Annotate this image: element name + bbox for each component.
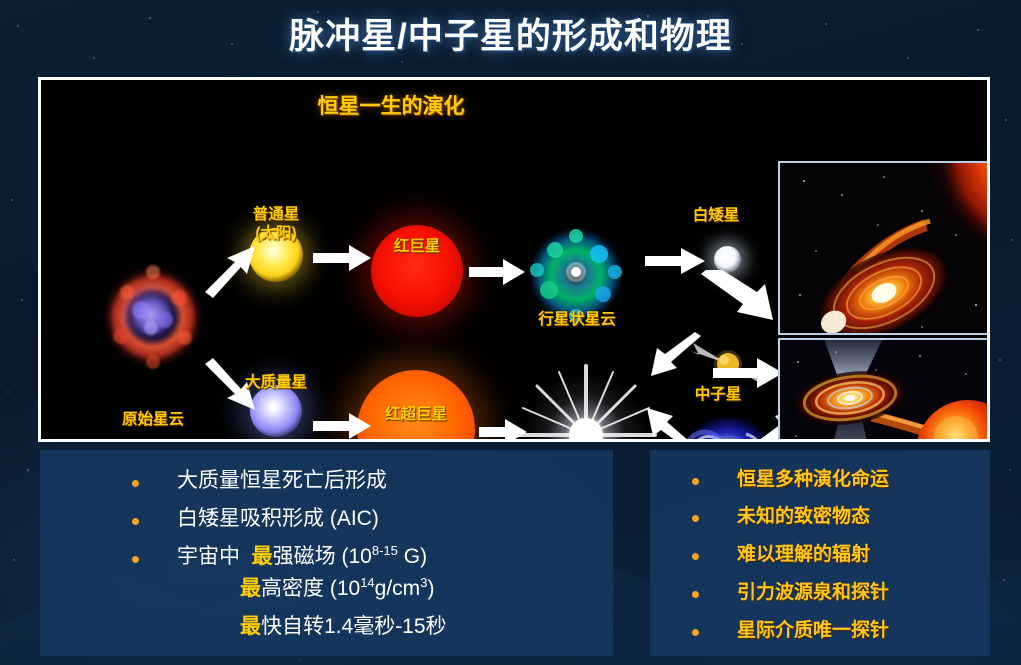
- list-item: 大质量恒星死亡后形成: [132, 464, 387, 494]
- bullet-text-magnetic-field: 宇宙中 最强磁场 (108-15 G): [177, 540, 427, 570]
- arrow-supernova-to-neutron-star: [649, 332, 705, 384]
- bullet-dot-icon: [132, 480, 139, 487]
- supernova-icon: [511, 360, 661, 442]
- primordial-nebula-icon: [97, 258, 209, 376]
- list-item: 引力波源泉和探针: [692, 577, 889, 604]
- arrow-red-giant-to-planetary-nebula: [469, 258, 525, 286]
- right-bullet-panel: 恒星多种演化命运 未知的致密物态 难以理解的辐射 引力波源泉和探针 星际介质唯一…: [650, 450, 990, 656]
- sub-tail: g/cm: [375, 577, 421, 600]
- label-primordial-nebula: 原始星云: [83, 410, 223, 429]
- bullet-dot-icon: [132, 556, 139, 563]
- nebula-texture: [97, 258, 209, 376]
- bullet-dot-icon: [692, 553, 699, 560]
- list-item: 难以理解的辐射: [692, 539, 870, 566]
- list-item: 恒星多种演化命运: [692, 464, 889, 491]
- bullet-dot-icon: [132, 518, 139, 525]
- list-item: 星际介质唯一探针: [692, 615, 889, 642]
- white-dwarf-icon: [714, 246, 741, 273]
- sub-line-density: 最高密度 (1014g/cm3): [240, 572, 434, 602]
- sub-tail-2: ): [427, 577, 434, 600]
- bullet-text: 恒星多种演化命运: [737, 464, 889, 491]
- bullet-text: 星际介质唯一探针: [737, 615, 889, 642]
- bullet-prefix: 宇宙中: [177, 545, 240, 568]
- highlight-char: 最: [240, 577, 261, 600]
- sub-rest: 快自转1.4毫秒-15秒: [261, 615, 447, 638]
- page-title: 脉冲星/中子星的形成和物理: [0, 8, 1021, 59]
- bullet-dot-icon: [692, 629, 699, 636]
- label-red-giant: 红巨星: [347, 237, 487, 256]
- left-bullet-panel: 大质量恒星死亡后形成 白矮星吸积形成 (AIC) 宇宙中 最强磁场 (108-1…: [40, 450, 613, 656]
- sub-rest: 高密度 (10: [261, 577, 360, 600]
- bullet-text: 未知的致密物态: [737, 501, 870, 528]
- bullet-text: 难以理解的辐射: [737, 539, 870, 566]
- label-planetary-nebula: 行星状星云: [503, 310, 651, 329]
- label-red-supergiant: 红超巨星: [346, 405, 486, 424]
- highlight-char: 最: [252, 545, 273, 568]
- bullet-dot-icon: [692, 478, 699, 485]
- diagram-title: 恒星一生的演化: [41, 90, 741, 120]
- microquasar-jet-photo: [778, 338, 990, 442]
- stellar-evolution-diagram: 恒星一生的演化 原始星云 普通星 (太阳) 大质量星: [38, 77, 990, 442]
- label-neutron-star: 中子星: [662, 385, 774, 404]
- bullet-dot-icon: [692, 591, 699, 598]
- label-massive-star: 大质量星: [206, 373, 346, 392]
- bullet-rest: 强磁场 (10: [273, 545, 372, 568]
- arrow-supernova-to-black-hole: [645, 400, 703, 442]
- list-item: 未知的致密物态: [692, 501, 870, 528]
- arrow-white-dwarf-to-accretion-photo: [699, 270, 777, 328]
- exponent: 14: [360, 575, 374, 590]
- list-item: 宇宙中 最强磁场 (108-15 G): [132, 540, 427, 570]
- bullet-text: 大质量恒星死亡后形成: [177, 464, 387, 494]
- exponent: 8-15: [372, 543, 398, 558]
- bullet-text: 引力波源泉和探针: [737, 577, 889, 604]
- label-ordinary-star: 普通星 (太阳): [206, 205, 346, 244]
- bullet-tail: G): [398, 545, 427, 568]
- arrow-supergiant-to-supernova: [479, 418, 527, 442]
- highlight-char: 最: [240, 615, 261, 638]
- bullet-dot-icon: [692, 515, 699, 522]
- label-white-dwarf: 白矮星: [661, 206, 771, 225]
- bullet-text: 白矮星吸积形成 (AIC): [177, 502, 379, 532]
- sub-line-rotation: 最快自转1.4毫秒-15秒: [240, 610, 447, 640]
- list-item: 白矮星吸积形成 (AIC): [132, 502, 379, 532]
- arrow-nebula-to-ordinary-star: [201, 240, 261, 300]
- arrow-planetary-nebula-to-white-dwarf: [645, 248, 705, 274]
- accretion-disk-photo: [778, 161, 990, 335]
